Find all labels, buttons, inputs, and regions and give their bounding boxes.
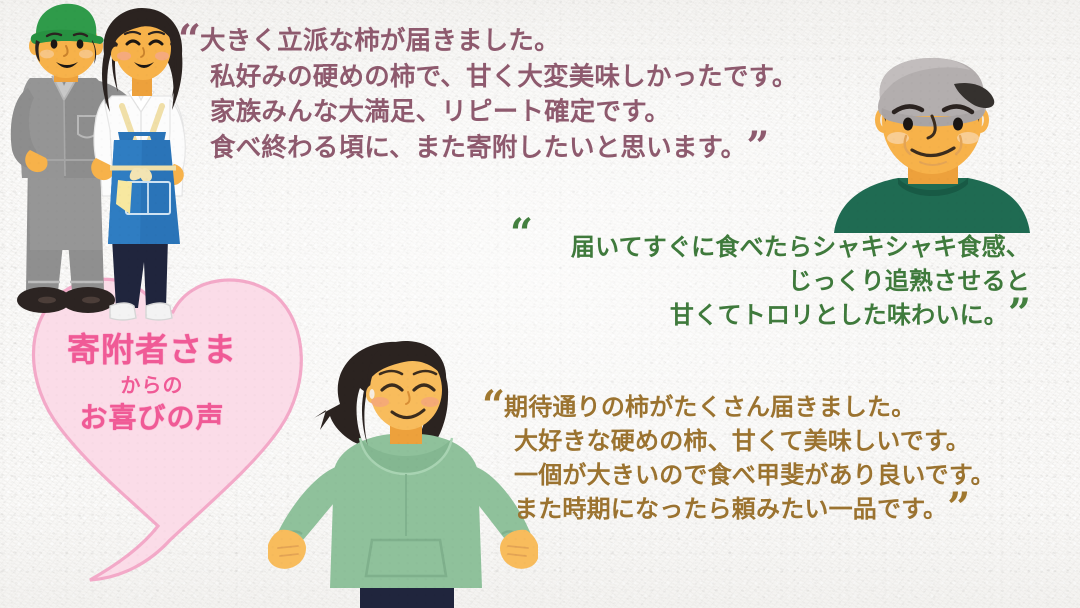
- heart-badge-text: 寄附者さま からの お喜びの声: [18, 330, 286, 436]
- testimonial-1-line-1: “大きく立派な柿が届きました。: [178, 24, 818, 60]
- testimonial-3-text-1: 期待通りの柿がたくさん届きました。: [504, 393, 915, 421]
- testimonial-2-line-3: 甘くてトロリとした味わいに。”: [510, 298, 1030, 332]
- testimonial-banner: 寄附者さま からの お喜びの声: [0, 0, 1080, 608]
- testimonial-1-line-2: 私好みの硬めの柿で、甘く大変美味しかったです。: [178, 60, 818, 96]
- heart-badge-line3: お喜びの声: [18, 400, 286, 436]
- testimonial-2-text-1: 届いてすぐに食べたらシャキシャキ食感、: [571, 233, 1030, 261]
- testimonial-2-text-3: 甘くてトロリとした味わいに。: [670, 301, 1008, 329]
- testimonial-1-line-4: 食べ終わる頃に、また寄附したいと思います。”: [178, 131, 818, 167]
- testimonial-2-line-1: “届いてすぐに食べたらシャキシャキ食感、: [510, 230, 1030, 264]
- testimonial-1: “大きく立派な柿が届きました。 私好みの硬めの柿で、甘く大変美味しかったです。 …: [178, 24, 818, 166]
- testimonial-2: “届いてすぐに食べたらシャキシャキ食感、 じっくり追熟させると 甘くてトロリとし…: [510, 230, 1030, 332]
- man-with-cap-illustration: [828, 58, 1043, 233]
- testimonial-3-line-3: 一個が大きいので食べ甲斐があり良いです。: [482, 458, 1022, 492]
- heart-badge-line2: からの: [18, 370, 286, 400]
- testimonial-3-line-4: また時期になったら頼みたい一品です。”: [482, 492, 1022, 526]
- testimonial-2-line-2: じっくり追熟させると: [510, 264, 1030, 298]
- testimonial-3-line-1: “期待通りの柿がたくさん届きました。: [482, 390, 1022, 424]
- testimonial-1-text-4: 食べ終わる頃に、また寄附したいと思います。: [210, 133, 746, 163]
- testimonial-1-line-3: 家族みんな大満足、リピート確定です。: [178, 95, 818, 131]
- testimonial-3-line-2: 大好きな硬めの柿、甘くて美味しいです。: [482, 424, 1022, 458]
- testimonial-1-text-1: 大きく立派な柿が届きました。: [200, 26, 560, 56]
- testimonial-3-text-4: また時期になったら頼みたい一品です。: [514, 495, 947, 523]
- testimonial-3: “期待通りの柿がたくさん届きました。 大好きな硬めの柿、甘くて美味しいです。 一…: [482, 390, 1022, 526]
